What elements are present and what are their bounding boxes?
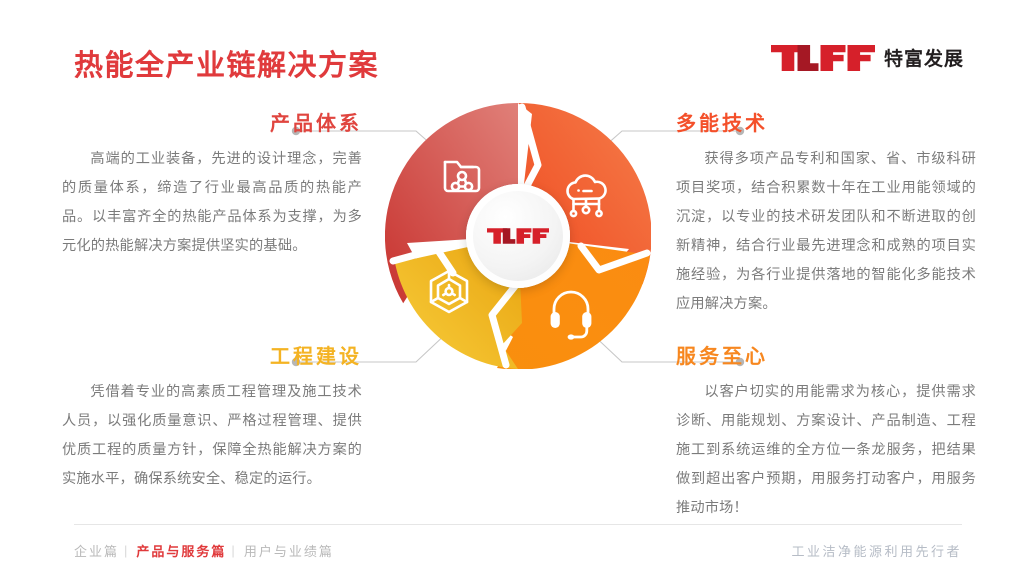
block-title-service-first: 服务至心 (676, 345, 976, 369)
block-title-multi-energy-tech: 多能技术 (676, 112, 976, 136)
footer: 企业篇 | 产品与服务篇 | 用户与业绩篇 工业洁净能源利用先行者 (0, 524, 1036, 586)
footer-nav-item-products-services[interactable]: 产品与服务篇 (136, 541, 226, 560)
page-title: 热能全产业链解决方案 (74, 42, 379, 84)
block-body-product-system: 高端的工业装备，先进的设计理念，完善的质量体系，缔造了行业最高品质的热能产品。以… (62, 145, 362, 261)
block-body-multi-energy-tech: 获得多项产品专利和国家、省、市级科研项目奖项，结合积累数十年在工业用能领域的沉淀… (676, 145, 976, 319)
brand-logo: 特富发展 (771, 44, 964, 71)
header: 热能全产业链解决方案 特富发展 (0, 0, 1036, 100)
block-engineering-construction: 工程建设 凭借着专业的高素质工程管理及施工技术人员，以强化质量意识、严格过程管理… (62, 345, 362, 494)
block-body-engineering-construction: 凭借着专业的高素质工程管理及施工技术人员，以强化质量意识、严格过程管理、提供优质… (62, 378, 362, 494)
footer-nav-separator-2: | (231, 543, 236, 558)
footer-nav: 企业篇 | 产品与服务篇 | 用户与业绩篇 (74, 541, 334, 560)
tuff-center-logo-icon (487, 228, 549, 244)
slide-root: 热能全产业链解决方案 特富发展 (0, 0, 1036, 586)
block-multi-energy-tech: 多能技术 获得多项产品专利和国家、省、市级科研项目奖项，结合积累数十年在工业用能… (676, 112, 976, 319)
footer-nav-item-company[interactable]: 企业篇 (74, 541, 119, 560)
central-wheel-diagram (385, 103, 651, 369)
block-title-engineering-construction: 工程建设 (62, 345, 362, 369)
footer-nav-item-users-performance[interactable]: 用户与业绩篇 (244, 541, 334, 560)
footer-tagline: 工业洁净能源利用先行者 (791, 541, 962, 560)
footer-divider (74, 524, 962, 525)
block-body-service-first: 以客户切实的用能需求为核心，提供需求诊断、用能规划、方案设计、产品制造、工程施工… (676, 378, 976, 523)
tuff-logo-icon (771, 45, 875, 71)
block-product-system: 产品体系 高端的工业装备，先进的设计理念，完善的质量体系，缔造了行业最高品质的热… (62, 112, 362, 261)
footer-nav-separator-1: | (124, 543, 129, 558)
block-title-product-system: 产品体系 (62, 112, 362, 136)
brand-logo-cn: 特富发展 (884, 44, 964, 71)
block-service-first: 服务至心 以客户切实的用能需求为核心，提供需求诊断、用能规划、方案设计、产品制造… (676, 345, 976, 523)
wheel-center-hub (466, 184, 570, 288)
